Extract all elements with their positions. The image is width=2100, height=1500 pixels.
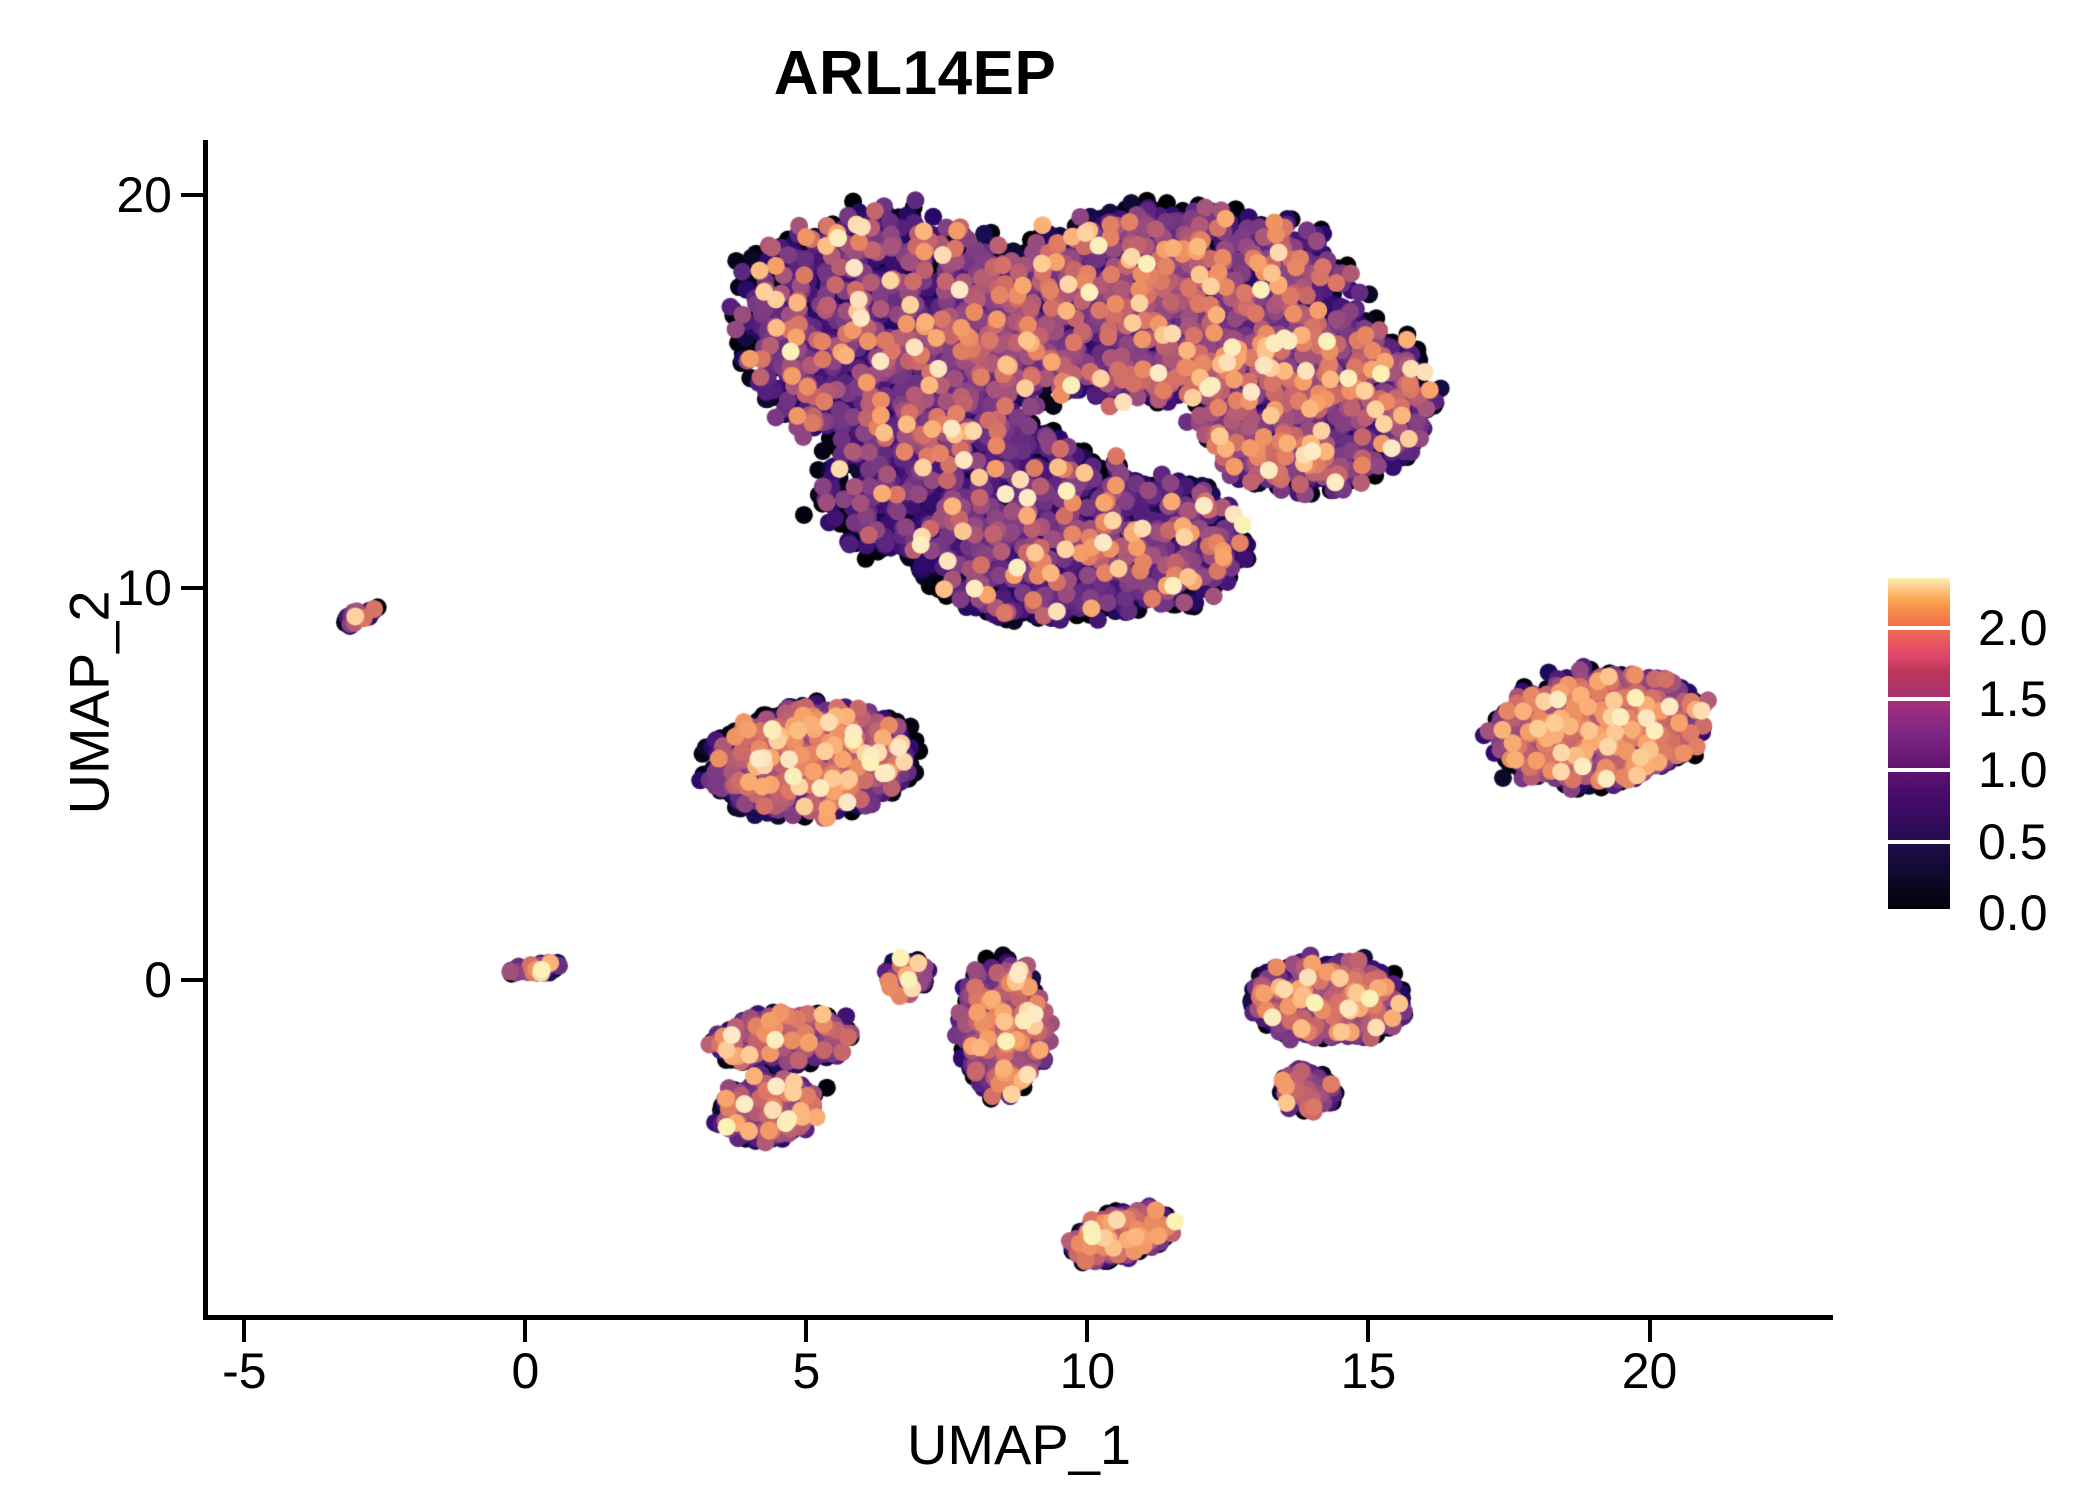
colorbar-tick-label: 0.5 [1978, 813, 2048, 871]
page-title: ARL14EP [0, 38, 1830, 109]
colorbar-tick-label: 2.0 [1978, 599, 2048, 657]
x-tick-label: 15 [1341, 1342, 1397, 1400]
y-tick-mark [181, 193, 203, 197]
x-tick-label: 0 [511, 1342, 539, 1400]
x-axis-line [205, 1315, 1833, 1320]
scatter-plot-canvas [205, 140, 1835, 1318]
colorbar-tick-mark [1888, 697, 1950, 701]
colorbar-tick-label: 0.0 [1978, 884, 2048, 942]
y-tick-mark [181, 586, 203, 590]
x-tick-mark [1085, 1320, 1089, 1342]
x-tick-mark [1648, 1320, 1652, 1342]
colorbar-tick-mark [1888, 768, 1950, 772]
y-axis-title: UMAP_2 [57, 303, 122, 1103]
x-tick-label: 20 [1622, 1342, 1678, 1400]
x-axis-title: UMAP_1 [205, 1412, 1833, 1477]
colorbar-tick-mark [1888, 626, 1950, 630]
figure-root: ARL14EP -505101520 01020 UMAP_1 UMAP_2 0… [0, 0, 2100, 1500]
y-axis-line [203, 140, 208, 1320]
x-tick-label: 5 [793, 1342, 821, 1400]
colorbar-tick-label: 1.0 [1978, 741, 2048, 799]
x-tick-mark [1366, 1320, 1370, 1342]
y-tick-mark [181, 978, 203, 982]
x-tick-label: -5 [222, 1342, 266, 1400]
x-tick-mark [242, 1320, 246, 1342]
colorbar-tick-label: 1.5 [1978, 670, 2048, 728]
x-tick-mark [804, 1320, 808, 1342]
x-tick-label: 10 [1060, 1342, 1116, 1400]
x-tick-mark [523, 1320, 527, 1342]
colorbar-tick-mark [1888, 909, 1950, 913]
colorbar-legend: 0.00.51.01.52.0 [1888, 578, 2088, 923]
y-tick-label: 20 [0, 166, 172, 224]
colorbar-tick-mark [1888, 840, 1950, 844]
